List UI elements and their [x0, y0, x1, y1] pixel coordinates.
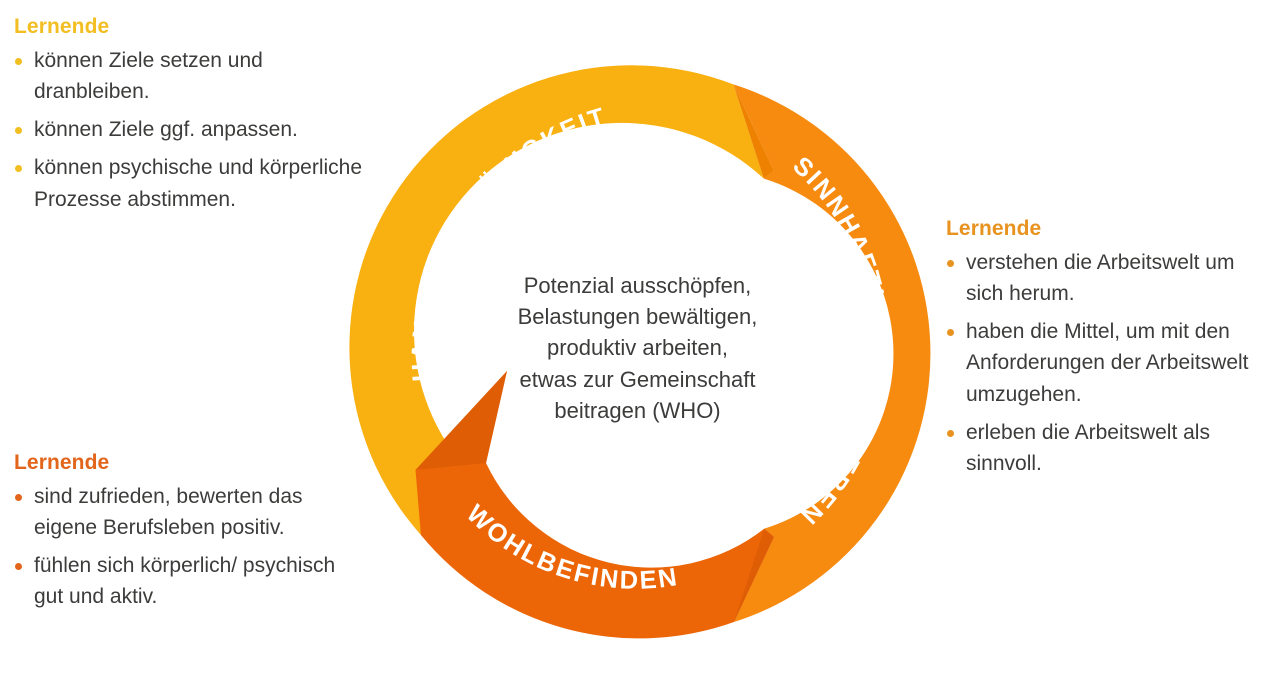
centre-text-line: produktiv arbeiten, [455, 332, 820, 363]
list-item: können Ziele ggf. anpassen. [14, 114, 384, 145]
bullet-dot-icon [15, 127, 22, 134]
bullet-dot-icon [15, 165, 22, 172]
bullet-dot-icon [15, 563, 22, 570]
text-block-wohlbefinden: Lernende sind zufrieden, bewerten das ei… [14, 450, 364, 620]
list-item: verstehen die Arbeits­welt um sich herum… [946, 247, 1262, 309]
list-item-text: können Ziele ggf. anpassen. [34, 118, 298, 141]
centre-text-line: Belastungen bewältigen, [455, 301, 820, 332]
bullet-dot-icon [947, 329, 954, 336]
list-item-text: sind zufrieden, bewerten das eigene Beru… [34, 485, 303, 539]
bullet-dot-icon [947, 260, 954, 267]
list-item: fühlen sich körperlich/ psychisch gut un… [14, 550, 364, 612]
bullet-list-bottom-left: sind zufrieden, bewerten das eigene Beru… [14, 481, 364, 612]
list-item-text: können Ziele setzen und dranbleiben. [34, 49, 263, 103]
list-item-text: fühlen sich körperlich/ psychisch gut un… [34, 554, 335, 608]
list-item-text: erleben die Arbeitswelt als sinnvoll. [966, 421, 1210, 475]
text-block-sinnhaftigkeit: Lernende verstehen die Arbeits­welt um s… [946, 216, 1262, 486]
list-item: können Ziele setzen und dranbleiben. [14, 45, 384, 107]
bullet-list-top-left: können Ziele setzen und dranbleiben. kön… [14, 45, 384, 214]
bullet-dot-icon [15, 58, 22, 65]
wheel-centre-text: Potenzial ausschöpfen, Belastungen bewäl… [455, 270, 820, 426]
block-heading-right: Lernende [946, 216, 1262, 241]
text-block-handlungsfaehigkeit: Lernende können Ziele setzen und dranble… [14, 14, 384, 222]
bullet-dot-icon [947, 430, 954, 437]
list-item: erleben die Arbeitswelt als sinnvoll. [946, 417, 1262, 479]
list-item-text: verstehen die Arbeits­welt um sich herum… [966, 251, 1234, 305]
block-heading-bottom-left: Lernende [14, 450, 364, 475]
diagram-canvas: Lernende können Ziele setzen und dranble… [0, 0, 1262, 682]
block-heading-top-left: Lernende [14, 14, 384, 39]
bullet-list-right: verstehen die Arbeits­welt um sich herum… [946, 247, 1262, 479]
bullet-dot-icon [15, 494, 22, 501]
list-item-text: können psychische und körperliche Prozes… [34, 156, 362, 210]
list-item-text: haben die Mittel, um mit den Anforderung… [966, 320, 1249, 405]
centre-text-line: Potenzial ausschöpfen, [455, 270, 820, 301]
list-item: haben die Mittel, um mit den Anforderung… [946, 316, 1262, 409]
list-item: können psychische und körperliche Prozes… [14, 152, 384, 214]
centre-text-line: etwas zur Gemeinschaft [455, 364, 820, 395]
centre-text-line: beitragen (WHO) [455, 395, 820, 426]
list-item: sind zufrieden, bewerten das eigene Beru… [14, 481, 364, 543]
